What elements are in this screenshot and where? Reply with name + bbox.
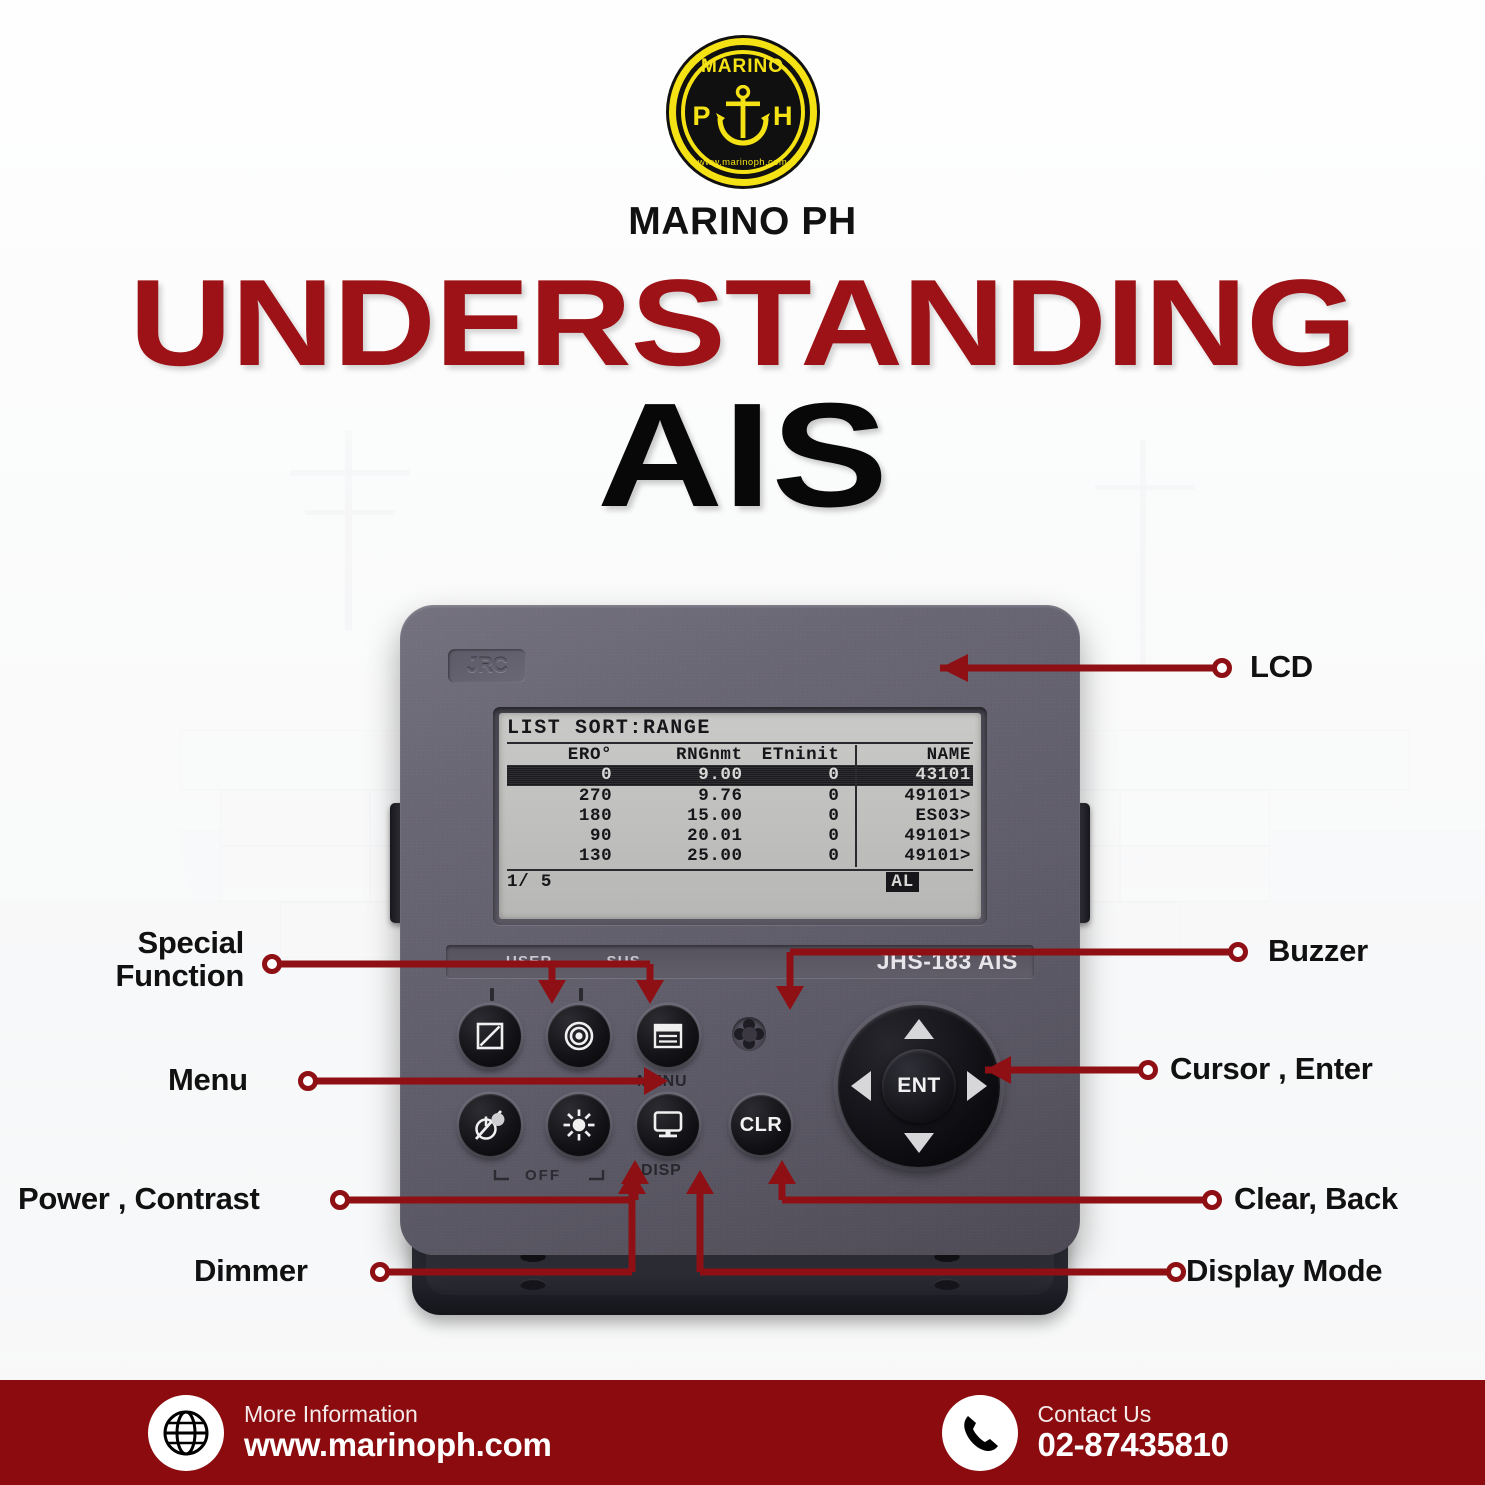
cursor-up-icon[interactable] [904, 1019, 934, 1039]
phone-icon [958, 1411, 1002, 1455]
lcd-table-row[interactable]: 0 9.00 0 43101 [507, 765, 973, 785]
device-front-panel: JRC LIST SORT:RANGE ERO° RNGnmt ETninit … [400, 605, 1080, 1255]
clear-back-button[interactable]: CLR [731, 1095, 791, 1155]
cell-eta: 0 [745, 846, 857, 866]
cell-range: 9.00 [614, 765, 744, 785]
lcd-target-table: ERO° RNGnmt ETninit NAME 0 9.00 0 43101 … [507, 745, 973, 867]
cell-range: 25.00 [614, 846, 744, 866]
softkey-label-user: USER [506, 953, 552, 970]
lcd-bezel: LIST SORT:RANGE ERO° RNGnmt ETninit NAME… [493, 707, 987, 925]
cell-name: 49101> [856, 826, 973, 846]
globe-icon-badge [148, 1395, 224, 1471]
display-monitor-icon [653, 1111, 683, 1139]
cell-bearing: 130 [507, 846, 614, 866]
concentric-circles-icon [563, 1020, 595, 1052]
logo-word-marino: MARINO [676, 56, 810, 78]
cell-name: 43101 [856, 765, 973, 785]
footer-phone-number[interactable]: 02-87435810 [1038, 1427, 1229, 1463]
clr-button-label: CLR [740, 1114, 783, 1137]
phone-icon-badge [942, 1395, 1018, 1471]
footer-contact-bar: More Information www.marinoph.com Contac… [0, 1380, 1485, 1485]
cursor-right-icon[interactable] [967, 1071, 987, 1101]
status-badge-alarm: AL [886, 872, 919, 892]
lcd-status-bar: 1/ 5 AL [507, 872, 973, 892]
power-contrast-icon [473, 1109, 507, 1141]
disp-button-label: DISP [641, 1162, 682, 1180]
header: MARINO P H www.marinoph.com MARINO PH UN… [0, 0, 1485, 524]
footer-info-label: More Information [244, 1402, 552, 1427]
footer-website[interactable]: www.marinoph.com [244, 1427, 552, 1463]
lcd-page-indicator: 1/ 5 [507, 872, 552, 892]
lcd-table-row[interactable]: 130 25.00 0 49101> [507, 846, 973, 866]
brightness-sun-icon [562, 1108, 596, 1142]
logo-letter-h: H [773, 101, 793, 132]
cursor-down-icon[interactable] [904, 1133, 934, 1153]
cursor-enter-pad[interactable]: ENT [838, 1005, 1000, 1167]
lcd-table-row[interactable]: 270 9.76 0 49101> [507, 786, 973, 806]
softkey-label-sus: SUS [606, 953, 640, 970]
cell-bearing: 0 [507, 765, 614, 785]
ent-button-label: ENT [897, 1074, 941, 1098]
logo-letter-p: P [693, 101, 711, 132]
lcd-screen[interactable]: LIST SORT:RANGE ERO° RNGnmt ETninit NAME… [499, 713, 981, 919]
off-text: OFF [525, 1167, 561, 1184]
cell-name: 49101> [856, 786, 973, 806]
cell-range: 9.76 [614, 786, 744, 806]
display-mode-button[interactable] [637, 1094, 699, 1156]
cell-bearing: 180 [507, 806, 614, 826]
buzzer-opening [732, 1017, 766, 1051]
power-contrast-button[interactable] [459, 1094, 521, 1156]
softkey-nameplate-bar: USER SUS JHS-183 AIS [446, 945, 1034, 978]
cell-range: 15.00 [614, 806, 744, 826]
cell-eta: 0 [745, 786, 857, 806]
device-model-label: JHS-183 AIS [877, 948, 1018, 975]
cursor-left-icon[interactable] [851, 1071, 871, 1101]
cell-name: 49101> [856, 846, 973, 866]
user-special-function-button[interactable] [459, 1005, 521, 1067]
cell-eta: 0 [745, 806, 857, 826]
cell-range: 20.01 [614, 826, 744, 846]
title-line-2: AIS [0, 388, 1485, 524]
menu-list-icon [653, 1023, 683, 1049]
globe-icon [162, 1409, 210, 1457]
enter-button[interactable]: ENT [882, 1049, 956, 1123]
col-range: RNGnmt [614, 745, 744, 765]
jrc-logo-text: JRC [467, 654, 508, 678]
dimmer-button[interactable] [548, 1094, 610, 1156]
menu-button-label: MENU [637, 1073, 687, 1091]
col-eta: ETninit [745, 745, 857, 765]
brand-name: MARINO PH [0, 200, 1485, 244]
jrc-logo: JRC [448, 649, 526, 683]
anchor-icon [712, 85, 774, 149]
footer-contact-label: Contact Us [1038, 1402, 1229, 1427]
col-name: NAME [856, 745, 973, 765]
lcd-title: LIST SORT:RANGE [507, 718, 973, 740]
power-off-marking: OFF [493, 1168, 605, 1188]
lcd-table-header: ERO° RNGnmt ETninit NAME [507, 745, 973, 765]
menu-button[interactable] [637, 1005, 699, 1067]
cell-bearing: 90 [507, 826, 614, 846]
cell-bearing: 270 [507, 786, 614, 806]
special-function-icon [475, 1021, 505, 1051]
col-bearing: ERO° [507, 745, 614, 765]
ais-transponder-device: JRC LIST SORT:RANGE ERO° RNGnmt ETninit … [390, 605, 1090, 1305]
lcd-table-row[interactable]: 180 15.00 0 ES03> [507, 806, 973, 826]
cell-eta: 0 [745, 826, 857, 846]
cell-eta: 0 [745, 765, 857, 785]
title-line-1: UNDERSTANDING [0, 266, 1485, 382]
sus-button[interactable] [548, 1005, 610, 1067]
logo-url: www.marinoph.com [676, 157, 810, 168]
lcd-table-row[interactable]: 90 20.01 0 49101> [507, 826, 973, 846]
cell-name: ES03> [856, 806, 973, 826]
marino-ph-logo: MARINO P H www.marinoph.com [669, 38, 817, 186]
